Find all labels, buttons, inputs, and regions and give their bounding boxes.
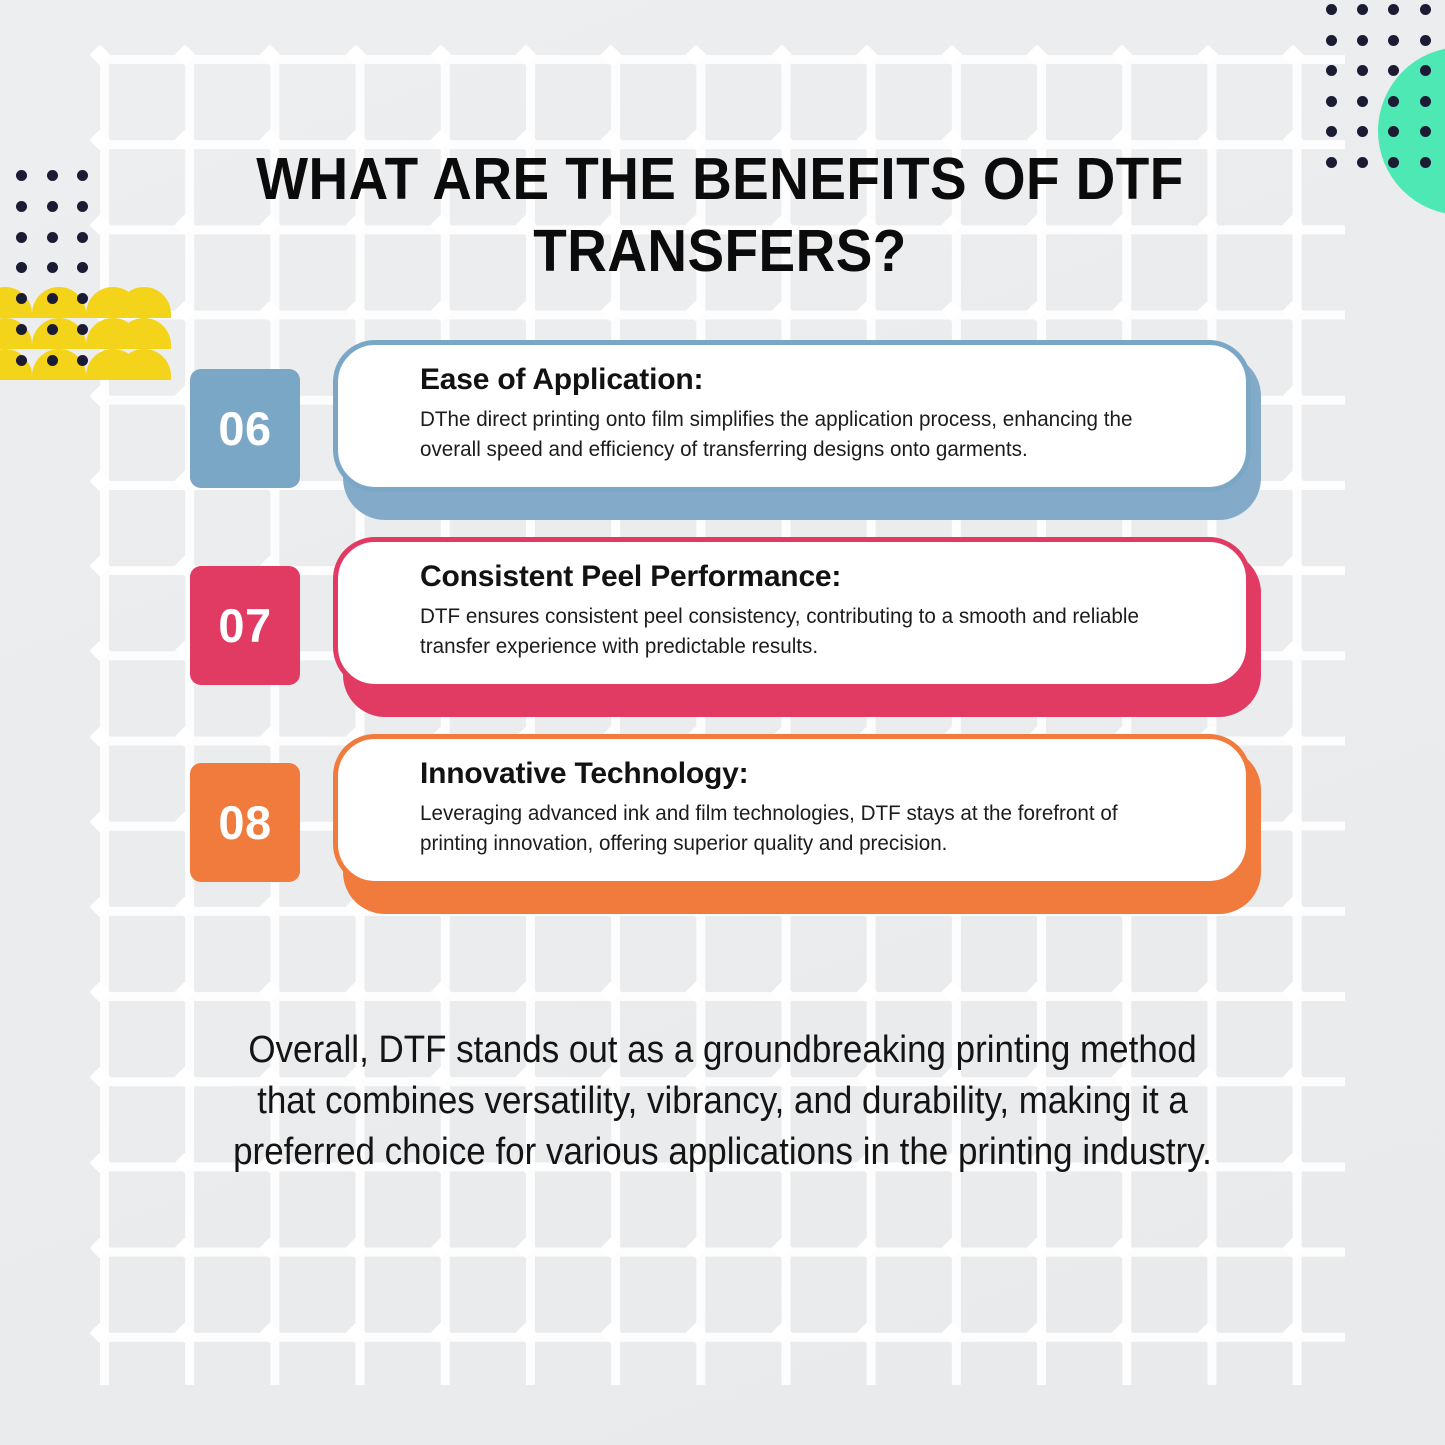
decorative-dot (1357, 157, 1368, 168)
decorative-dot (16, 324, 27, 335)
benefit-description-07: DTF ensures consistent peel consistency,… (420, 601, 1180, 661)
decorative-dot (1326, 35, 1337, 46)
closing-paragraph: Overall, DTF stands out as a groundbreak… (219, 1025, 1226, 1178)
decorative-dot (1420, 35, 1431, 46)
decorative-dot (1420, 96, 1431, 107)
benefit-number-badge-06: 06 (190, 369, 300, 488)
decorative-dot (16, 201, 27, 212)
benefit-card-07[interactable]: Consistent Peel Performance: DTF ensures… (333, 537, 1251, 689)
decorative-dot (1357, 4, 1368, 15)
half-dome-shape (0, 349, 32, 380)
benefit-description-06: DThe direct printing onto film simplifie… (420, 404, 1180, 464)
decorative-dot (47, 293, 58, 304)
decorative-dot (1388, 4, 1399, 15)
benefit-card-wrapper-07: Consistent Peel Performance: DTF ensures… (333, 537, 1251, 709)
decorative-dot (1388, 65, 1399, 76)
decorative-dot (1357, 35, 1368, 46)
decorative-dot (1420, 157, 1431, 168)
benefit-number-badge-07: 07 (190, 566, 300, 685)
decorative-dot (1420, 126, 1431, 137)
decorative-dot (77, 324, 88, 335)
infographic-poster: WHAT ARE THE BENEFITS OF DTF TRANSFERS? … (0, 0, 1445, 1445)
decorative-dot (47, 201, 58, 212)
decorative-dot (16, 355, 27, 366)
decorative-dot (47, 355, 58, 366)
benefit-title-06: Ease of Application: (420, 363, 1212, 397)
benefit-number-badge-08: 08 (190, 763, 300, 882)
decorative-dot (1326, 96, 1337, 107)
decorative-dot (77, 355, 88, 366)
benefit-title-08: Innovative Technology: (420, 757, 1212, 791)
benefit-card-08[interactable]: Innovative Technology: Leveraging advanc… (333, 734, 1251, 886)
decorative-dot (1357, 65, 1368, 76)
decorative-dot (1326, 4, 1337, 15)
decorative-dot (16, 262, 27, 273)
decorative-dot (77, 262, 88, 273)
benefit-card-06[interactable]: Ease of Application: DThe direct printin… (333, 340, 1251, 492)
benefit-description-08: Leveraging advanced ink and film technol… (420, 798, 1180, 858)
page-title: WHAT ARE THE BENEFITS OF DTF TRANSFERS? (209, 143, 1232, 287)
decorative-dot (1420, 65, 1431, 76)
decorative-dot (1357, 96, 1368, 107)
decorative-dot (1420, 4, 1431, 15)
decorative-dot (47, 232, 58, 243)
benefit-title-07: Consistent Peel Performance: (420, 560, 1212, 594)
decorative-dot (77, 170, 88, 181)
decorative-dot (16, 170, 27, 181)
benefit-card-wrapper-06: Ease of Application: DThe direct printin… (333, 340, 1251, 512)
decorative-dot (1357, 126, 1368, 137)
decorative-dot (1388, 35, 1399, 46)
decorative-dot (16, 232, 27, 243)
decorative-dot (77, 293, 88, 304)
benefit-card-wrapper-08: Innovative Technology: Leveraging advanc… (333, 734, 1251, 906)
half-dome-shape (0, 318, 32, 349)
decorative-dot (1326, 157, 1337, 168)
decorative-dot (47, 262, 58, 273)
decorative-dot (77, 232, 88, 243)
decorative-dot (47, 170, 58, 181)
decorative-dot (47, 324, 58, 335)
decorative-dot (77, 201, 88, 212)
half-dome-shape (0, 287, 32, 318)
